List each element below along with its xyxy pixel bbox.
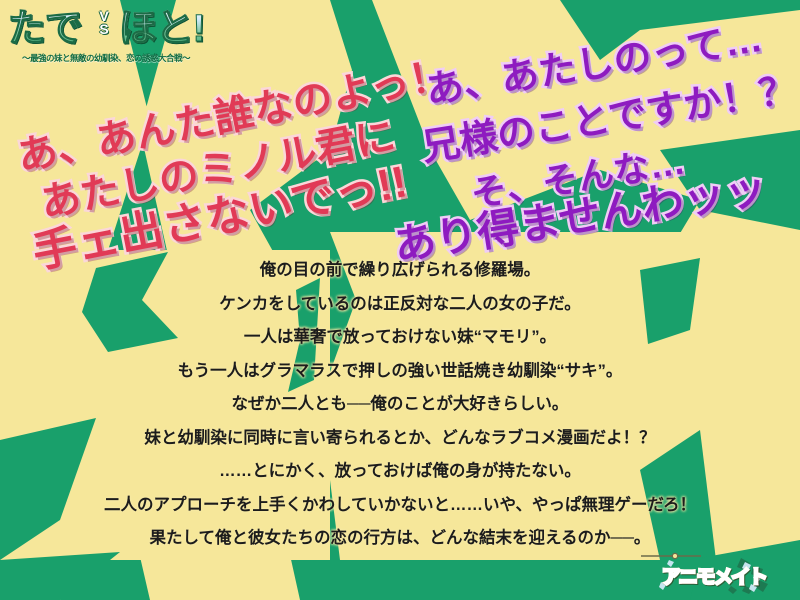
logo-vs-bottom: S [91,23,117,36]
promo-banner: たで ほと! V S 〜最強の妹と無敵の幼馴染、恋の誘惑大合戦〜 あ、あんた誰な… [0,0,800,600]
synopsis-line: 二人のアプローチを上手くかわしていかないと……いや、やっぱ無理ゲーだろ！ [0,497,800,514]
synopsis-line: ……とにかく、放っておけば俺の身が持たない。 [0,463,800,480]
watermark-label: アニモメイト [655,562,773,589]
synopsis-line: 果たして俺と彼女たちの恋の行方は、どんな結末を迎えるのか──。 [0,530,800,547]
logo-subtitle: 〜最強の妹と無敵の幼馴染、恋の誘惑大合戦〜 [6,52,206,64]
synopsis-line: ケンカをしているのは正反対な二人の女の子だ。 [0,296,800,313]
animate-watermark: アニモメイト [655,556,773,594]
game-title-logo: たで ほと! V S 〜最強の妹と無敵の幼馴染、恋の誘惑大合戦〜 [6,4,206,70]
synopsis-line: 一人は華奢で放っておけない妹“マモリ”。 [0,329,800,346]
synopsis-line: もう一人はグラマラスで押しの強い世話焼き幼馴染“サキ”。 [0,363,800,380]
synopsis-line: なぜか二人とも──俺のことが大好きらしい。 [0,396,800,413]
synopsis-line: 妹と幼馴染に同時に言い寄られるとか、どんなラブコメ漫画だよ！？ [0,430,800,447]
synopsis-block: 俺の目の前で繰り広げられる修羅場。 ケンカをしているのは正反対な二人の女の子だ。… [0,262,800,564]
logo-vs-mark: V S [91,10,117,36]
